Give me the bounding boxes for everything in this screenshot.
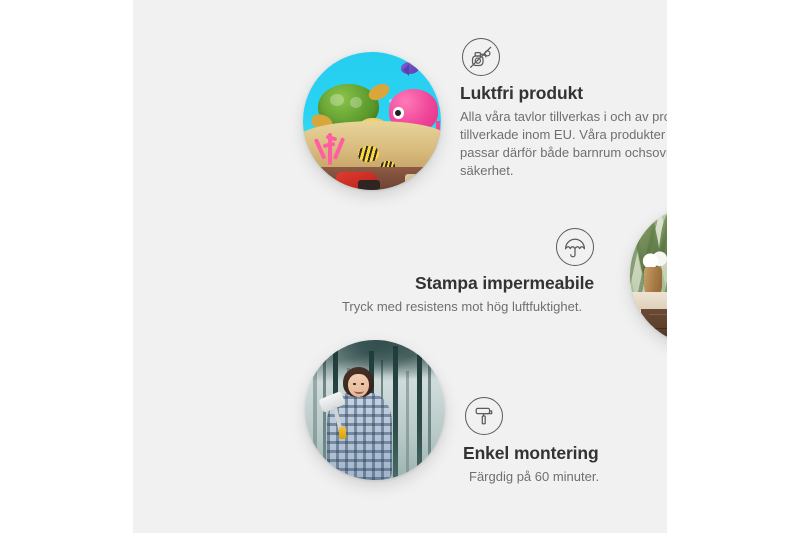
tree — [393, 346, 398, 480]
tree — [406, 371, 409, 480]
feature-block-odourless: Luktfri produkt Alla våra tavlor tillver… — [460, 38, 667, 180]
paint-roller-icon — [465, 397, 503, 435]
octopus-eye — [393, 107, 405, 119]
paint-roller-grip — [339, 427, 346, 440]
feature-description: Färgdig på 60 minuter. — [463, 468, 667, 486]
woman-smile — [354, 388, 364, 394]
no-perfume-icon — [462, 38, 500, 76]
tree — [417, 354, 422, 480]
feature-title: Luktfri produkt — [460, 83, 667, 105]
strip-dark-shape — [358, 180, 380, 190]
tree — [313, 365, 316, 480]
bathroom-scene — [630, 205, 667, 345]
woman-eye — [361, 383, 364, 385]
feature-block-waterproof: Stampa impermeabile Tryck med resistens … — [328, 228, 596, 316]
bathroom-leaf-wallpaper-circle-image — [630, 205, 667, 345]
tree — [323, 357, 326, 480]
feature-title: Stampa impermeabile — [328, 273, 596, 295]
feature-block-easy-assembly: Enkel montering Färgdig på 60 minuter. — [463, 397, 667, 486]
coral — [313, 124, 349, 165]
feature-description: Tryck med resistens mot hög luftfuktighe… — [328, 298, 596, 316]
woman-forest-wallpaper-circle-image — [305, 340, 445, 480]
forest-canopy — [305, 340, 445, 390]
image-bottom-strip — [303, 167, 441, 190]
strip-tan-shape — [405, 174, 430, 188]
screenshot-stage: Luktfri produkt Alla våra tavlor tillver… — [0, 0, 800, 533]
forest-scene — [305, 340, 445, 480]
wooden-vanity — [641, 309, 667, 345]
underwater-cartoon-circle-image — [303, 52, 441, 190]
feature-description: Alla våra tavlor tillverkas i och av pro… — [460, 108, 667, 180]
purple-fish — [401, 62, 419, 74]
ocean-scene — [303, 52, 441, 190]
woman-eye — [353, 383, 356, 385]
umbrella-icon — [556, 228, 594, 266]
feature-title: Enkel montering — [463, 443, 667, 465]
product-feature-panel: Luktfri produkt Alla våra tavlor tillver… — [133, 0, 667, 533]
vanity-drawer — [649, 314, 667, 328]
tree — [428, 362, 431, 480]
